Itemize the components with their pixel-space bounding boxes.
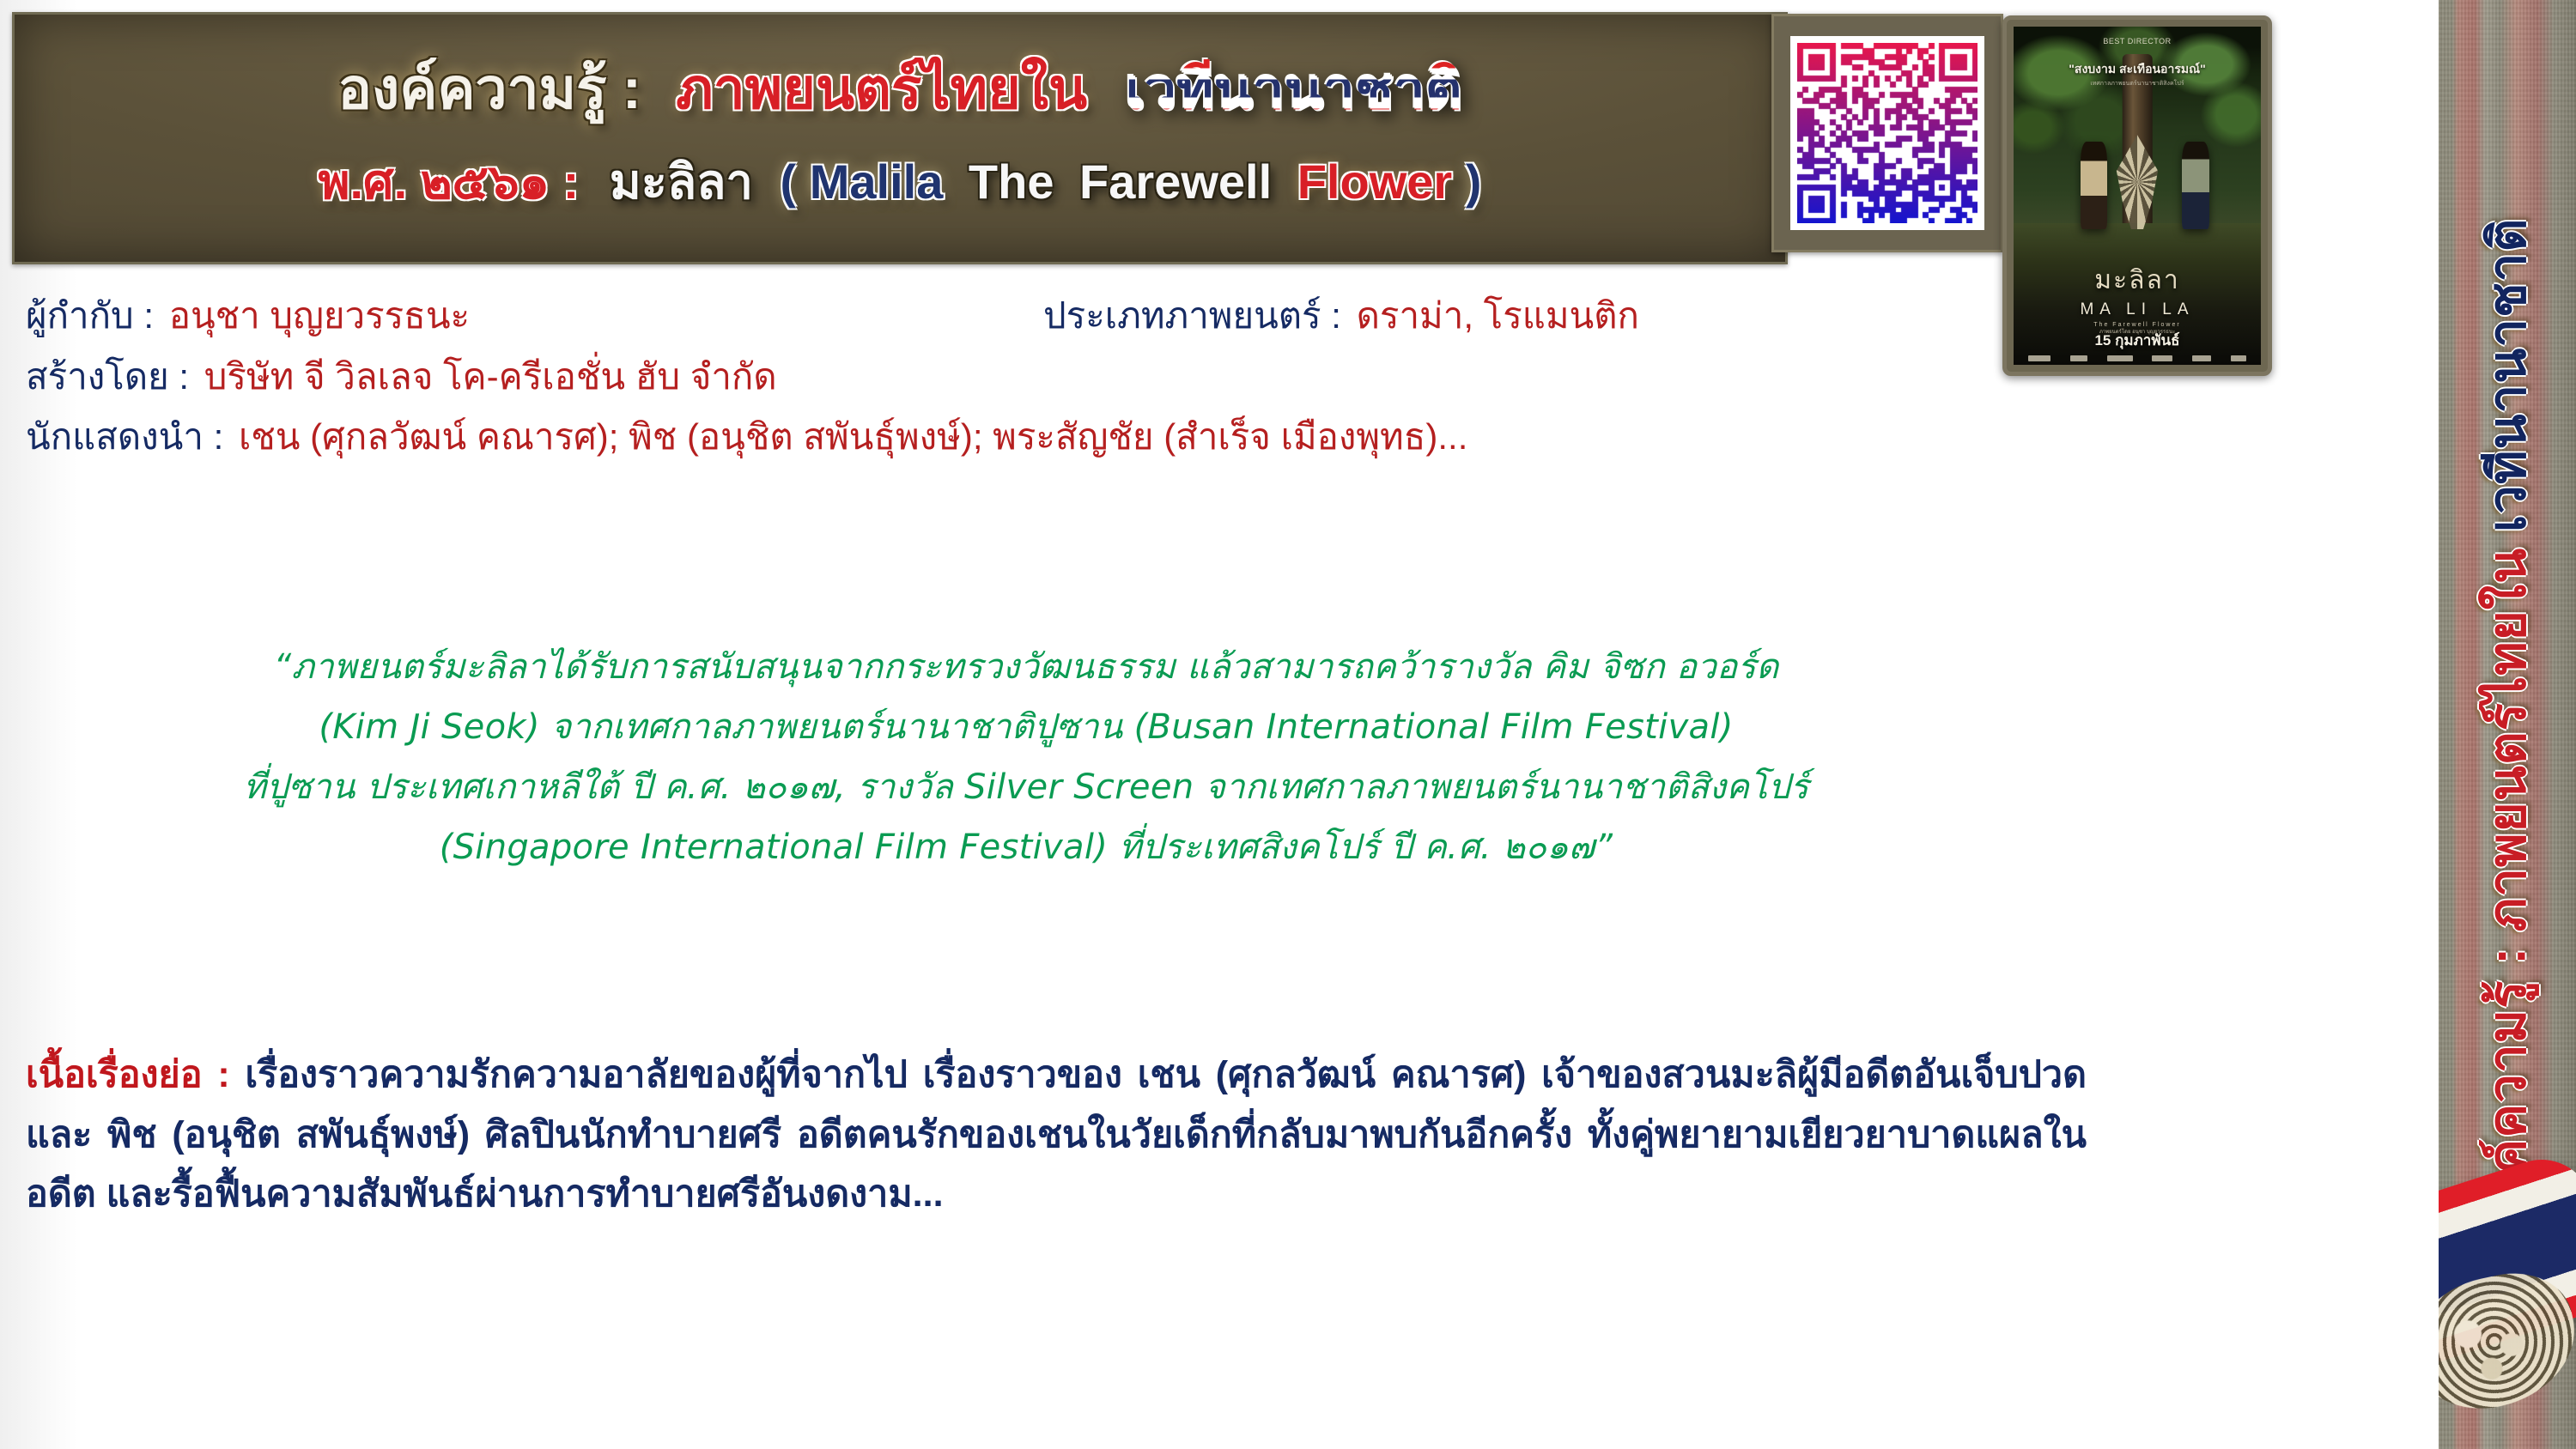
film-info-block: ผู้กำกับ : อนุชา บุญยวรรธนะ ประเภทภาพยนต… [26, 292, 1992, 474]
synopsis-block: เนื้อเรื่องย่อ : เรื่องราวความรักความอาล… [26, 1046, 2087, 1225]
synopsis-body: เรื่องราวความรักความอาลัยของผู้ที่จากไป … [26, 1054, 2087, 1215]
banner-subtitle-year: พ.ศ. ๒๕๖๑ : [319, 155, 580, 209]
rail-title-part1: องค์ความรู้ : [2479, 947, 2537, 1231]
poster-subtagline: เทศกาลภาพยนตร์นานาชาติสิงคโปร์ [2014, 79, 2261, 88]
info-field-director: ผู้กำกับ : อนุชา บุญยวรรธนะ [26, 292, 1043, 341]
director-label: ผู้กำกับ : [26, 295, 154, 336]
poster-thai-title: มะลิลา [2014, 260, 2261, 300]
quote-line-3: ที่ปูซาน ประเทศเกาหลีใต้ ปี ค.ศ. ๒๐๑๗, ร… [52, 757, 2001, 817]
header-banner: องค์ความรู้ : ภาพยนตร์ไทยใน เวทีนานาชาติ… [12, 12, 1788, 264]
banner-subtitle-paren-open: ( [781, 155, 797, 209]
banner-subtitle-line: พ.ศ. ๒๕๖๑ : มะลิลา ( Malila The Farewell… [15, 143, 1785, 220]
banner-subtitle-thai: มะลิลา [610, 155, 753, 209]
banner-title-part2: ภาพยนตร์ไทยใน [676, 57, 1087, 120]
movie-poster-image: BEST DIRECTOR "สงบงาม สะเทือนอารมณ์" เทศ… [2014, 27, 2261, 365]
banner-subtitle-en3: Farewell [1079, 155, 1272, 209]
producer-value: บริษัท จี วิลเลจ โค-ครีเอชั่น ฮับ จำกัด [204, 356, 777, 397]
genre-value: ดราม่า, โรแมนติก [1357, 295, 1639, 336]
banner-subtitle-en1: Malila [810, 155, 944, 209]
producer-label: สร้างโดย : [26, 356, 189, 397]
qr-code-icon [1797, 43, 1978, 223]
qr-code-inner [1790, 36, 1984, 230]
rail-vertical-title: องค์ความรู้ : ภาพยนตร์ไทยใน เวทีนานาชาติ [2476, 218, 2540, 1232]
poster-studio-logos [2028, 355, 2245, 363]
poster-tagline: "สงบงาม สะเทือนอารมณ์" [2014, 60, 2261, 79]
poster-latin-title: MA LI LA [2014, 300, 2261, 319]
quote-line-4: (Singapore International Film Festival) … [52, 817, 2001, 877]
info-field-cast: นักแสดงนำ : เชน (ศุกลวัฒน์ คณารศ); พิช (… [26, 413, 1467, 462]
info-row-cast: นักแสดงนำ : เชน (ศุกลวัฒน์ คณารศ); พิช (… [26, 413, 1992, 462]
rail-title-part2: ภาพยนตร์ไทยใน [2479, 548, 2537, 931]
quote-line-1: “ภาพยนตร์มะลิลาได้รับการสนับสนุนจากกระทร… [52, 637, 2001, 697]
right-decorative-rail: องค์ความรู้ : ภาพยนตร์ไทยใน เวทีนานาชาติ [2439, 0, 2576, 1449]
info-row-director-genre: ผู้กำกับ : อนุชา บุญยวรรธนะ ประเภทภาพยนต… [26, 292, 1992, 341]
banner-subtitle-en4: Flower [1297, 155, 1452, 209]
poster-award-laurel: BEST DIRECTOR [2103, 37, 2171, 45]
synopsis-label: เนื้อเรื่องย่อ : [26, 1054, 230, 1095]
banner-subtitle-paren-close: ) [1466, 155, 1482, 209]
cast-label: นักแสดงนำ : [26, 416, 223, 457]
director-value: อนุชา บุญยวรรธนะ [169, 295, 470, 336]
qr-code-frame[interactable] [1771, 14, 2003, 252]
poster-release-date: 15 กุมภาพันธ์ [2014, 329, 2261, 352]
rail-title-part3: เวทีนานาชาติ [2479, 218, 2537, 533]
banner-title-line: องค์ความรู้ : ภาพยนตร์ไทยใน เวทีนานาชาติ [15, 44, 1785, 134]
info-field-producer: สร้างโดย : บริษัท จี วิลเลจ โค-ครีเอชั่น… [26, 353, 777, 402]
awards-quote-block: “ภาพยนตร์มะลิลาได้รับการสนับสนุนจากกระทร… [52, 637, 2001, 877]
cast-value: เชน (ศุกลวัฒน์ คณารศ); พิช (อนุชิต สพันธ… [239, 416, 1467, 457]
info-field-genre: ประเภทภาพยนตร์ : ดราม่า, โรแมนติก [1043, 292, 1992, 341]
poster-figure-left [2081, 142, 2108, 229]
info-row-producer: สร้างโดย : บริษัท จี วิลเลจ โค-ครีเอชั่น… [26, 353, 1992, 402]
poster-figure-right [2182, 142, 2209, 229]
poster-page: องค์ความรู้ : ภาพยนตร์ไทยใน เวทีนานาชาติ… [0, 0, 2576, 1449]
movie-poster-frame: BEST DIRECTOR "สงบงาม สะเทือนอารมณ์" เทศ… [2002, 15, 2272, 376]
quote-line-2: (Kim Ji Seok) จากเทศกาลภาพยนตร์นานาชาติป… [52, 697, 2001, 757]
banner-subtitle-en2: The [969, 155, 1054, 209]
banner-title-part3: เวทีนานาชาติ [1125, 57, 1461, 120]
genre-label: ประเภทภาพยนตร์ : [1043, 295, 1341, 336]
banner-title-part1: องค์ความรู้ : [337, 57, 641, 120]
